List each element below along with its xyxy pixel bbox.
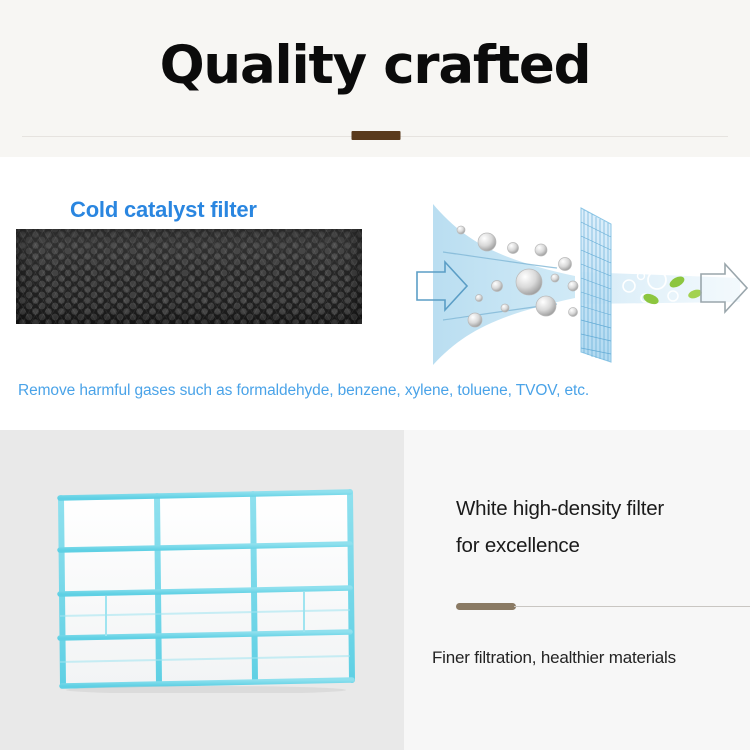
cold-catalyst-caption: Remove harmful gases such as formaldehyd… (18, 382, 732, 400)
dust-particle (501, 304, 509, 312)
product-infographic-page: Quality crafted Cold catalyst filter (0, 0, 750, 750)
white-grid-filter-image (46, 488, 364, 693)
cold-catalyst-title: Cold catalyst filter (70, 197, 257, 223)
dust-particle (516, 269, 542, 295)
page-title: Quality crafted (0, 36, 750, 96)
dust-particle (478, 233, 496, 251)
white-filter-heading-line2: for excellence (456, 527, 746, 564)
divider-accent-segment (456, 603, 516, 610)
dust-particle (508, 243, 519, 254)
white-filter-divider (456, 603, 750, 610)
dirty-airflow-cone (433, 204, 575, 365)
airflow-diagram (405, 202, 750, 367)
dust-particle (536, 296, 556, 316)
white-filter-text-panel: White high-density filter for excellence… (404, 430, 750, 750)
header-accent-bar (352, 131, 401, 140)
honeycomb-carbon-filter-image (16, 229, 362, 324)
white-filter-caption: Finer filtration, healthier materials (432, 648, 676, 668)
white-filter-section: White high-density filter for excellence… (0, 430, 750, 750)
dust-particle (568, 281, 578, 291)
cold-catalyst-section: Cold catalyst filter (0, 157, 750, 430)
dust-particle (457, 226, 465, 234)
dust-particle (535, 244, 547, 256)
dust-particle (559, 258, 572, 271)
dust-particle (492, 281, 503, 292)
white-filter-heading-line1: White high-density filter (456, 490, 746, 527)
dust-particle (551, 274, 559, 282)
dust-particle (569, 308, 578, 317)
dust-particle (476, 295, 483, 302)
white-filter-heading: White high-density filter for excellence (456, 490, 746, 564)
filter-mesh-screen (581, 208, 611, 362)
white-filter-image-panel (0, 430, 404, 750)
dust-particle (468, 313, 482, 327)
divider-hairline (514, 606, 750, 607)
header-band: Quality crafted (0, 0, 750, 157)
